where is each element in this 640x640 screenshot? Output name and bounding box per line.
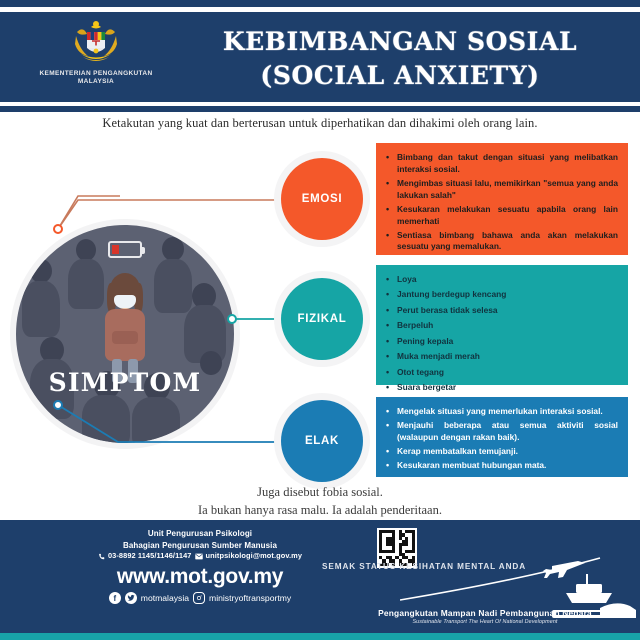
email-icon [195, 553, 203, 560]
top-strip-navy [0, 0, 640, 7]
footer-phone: 03-8892 1145/1146/1147 [108, 551, 192, 562]
twitter-icon[interactable] [125, 592, 137, 604]
list-item: Loya [384, 274, 618, 286]
category-circle-elak[interactable]: ELAK [281, 400, 363, 482]
list-item: Kesukaran membuat hubungan mata. [384, 460, 618, 472]
list-item: Pening kepala [384, 336, 618, 348]
bottom-strip-teal [0, 633, 640, 640]
list-item: Muka menjadi merah [384, 351, 618, 363]
list-item: Kesukaran melakukan sesuatu apabila oran… [384, 204, 618, 228]
list-item: Mengimbas situasi lalu, memikirkan "semu… [384, 178, 618, 202]
caption-line-1: Juga disebut fobia sosial. [0, 483, 640, 501]
phone-icon [98, 553, 105, 560]
crowd-figure [132, 397, 180, 443]
category-label-elak: ELAK [305, 435, 339, 447]
footer-unit-line-2: Bahagian Pengurusan Sumber Manusia [60, 540, 340, 552]
list-item: Mengelak situasi yang memerlukan interak… [384, 406, 618, 418]
header-banner: KEMENTERIAN PENGANGKUTAN MALAYSIA KEBIMB… [0, 12, 640, 102]
simptom-image-circle: SIMPTOM [16, 225, 234, 443]
logo-caption-line1: KEMENTERIAN PENGANGKUTAN [39, 70, 152, 78]
list-item: Kerap membatalkan temujanji. [384, 446, 618, 458]
qr-instruction-text: SEMAK STATUS KESIHATAN MENTAL ANDA [322, 562, 532, 571]
instagram-icon[interactable] [193, 592, 205, 604]
list-item: Otot tegang [384, 367, 618, 379]
bottom-caption: Juga disebut fobia sosial. Ia bukan hany… [0, 483, 640, 519]
logo-caption-line2: MALAYSIA [39, 78, 152, 86]
simptom-label: SIMPTOM [16, 368, 234, 397]
panel-emosi: Bimbang dan takut dengan situasi yang me… [376, 143, 628, 255]
panel-fizikal: Loya Jantung berdegup kencang Perut bera… [376, 265, 628, 385]
connector-emosi [58, 196, 120, 229]
category-circle-fizikal[interactable]: FIZIKAL [281, 278, 363, 360]
list-item: Bimbang dan takut dengan situasi yang me… [384, 152, 618, 176]
facebook-icon[interactable]: f [109, 592, 121, 604]
airplane-icon [543, 561, 585, 578]
crowd-figure [76, 239, 96, 261]
footer-website-url[interactable]: www.mot.gov.my [60, 565, 340, 589]
list-item: Suara bergetar [384, 382, 618, 394]
ministry-logo: KEMENTERIAN PENGANGKUTAN MALAYSIA [36, 18, 156, 98]
list-item: Menjauhi beberapa atau semua aktiviti so… [384, 420, 618, 444]
panel-elak: Mengelak situasi yang memerlukan interak… [376, 397, 628, 477]
low-battery-icon [108, 241, 142, 258]
footer-handle-instagram: ministryoftransportmy [209, 593, 291, 603]
page-title: KEBIMBANGAN SOSIAL (SOCIAL ANXIETY) [175, 25, 625, 93]
title-line-2: (SOCIAL ANXIETY) [175, 59, 625, 93]
list-item: Sentiasa bimbang bahawa anda akan melaku… [384, 230, 618, 254]
crowd-figure [154, 259, 192, 313]
footer-contact-block: Unit Pengurusan Psikologi Bahagian Pengu… [60, 528, 340, 562]
ship-icon [566, 574, 612, 603]
category-label-fizikal: FIZIKAL [298, 313, 347, 325]
connector-dot-emosi [54, 225, 62, 233]
footer-social-row: f motmalaysia ministryoftransportmy [60, 592, 340, 604]
malaysia-coat-of-arms-icon [67, 18, 125, 68]
list-item: Jantung berdegup kencang [384, 289, 618, 301]
crowd-figure [22, 281, 60, 337]
connector-emosi-line [58, 200, 281, 229]
header-underline-white-2 [0, 112, 640, 115]
list-item: Berpeluh [384, 320, 618, 332]
category-circle-emosi[interactable]: EMOSI [281, 158, 363, 240]
lead-sentence: Ketakutan yang kuat dan berterusan untuk… [0, 116, 640, 131]
footer-handle-facebook-twitter: motmalaysia [141, 593, 189, 603]
list-item: Perut berasa tidak selesa [384, 305, 618, 317]
tagline-malay: Pengangkutan Mampan Nadi Pembangunan Neg… [330, 608, 640, 618]
crowd-figure [162, 237, 184, 261]
crowd-figure [82, 395, 130, 443]
footer-unit-line-1: Unit Pengurusan Psikologi [60, 528, 340, 540]
title-line-1: KEBIMBANGAN SOSIAL [175, 25, 625, 59]
caption-line-2: Ia bukan hanya rasa malu. Ia adalah pend… [0, 501, 640, 519]
crowd-figure [30, 259, 52, 283]
footer-email[interactable]: unitpsikologi@mot.gov.my [206, 551, 303, 562]
footer-tagline: Pengangkutan Mampan Nadi Pembangunan Neg… [330, 608, 640, 625]
category-label-emosi: EMOSI [302, 193, 343, 205]
infographic-poster: KEMENTERIAN PENGANGKUTAN MALAYSIA KEBIMB… [0, 0, 640, 640]
tagline-english: Sustainable Transport The Heart Of Natio… [330, 619, 640, 625]
